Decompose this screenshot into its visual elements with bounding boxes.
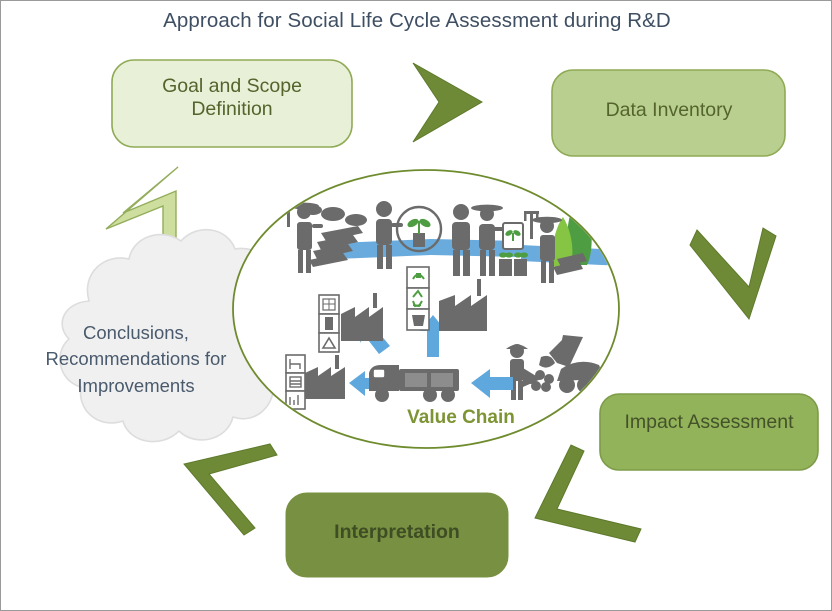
diagram-graphics <box>1 1 832 611</box>
diagram-canvas: Approach for Social Life Cycle Assessmen… <box>0 0 832 611</box>
data-inventory-box[interactable] <box>552 70 785 156</box>
interpretation-box[interactable] <box>286 493 508 577</box>
chevron-top-icon <box>413 63 482 142</box>
chevron-bottom-left-icon <box>184 444 277 535</box>
goal-scope-box[interactable] <box>112 60 352 147</box>
chevron-right-icon <box>690 228 776 319</box>
impact-assessment-box[interactable] <box>600 394 818 470</box>
